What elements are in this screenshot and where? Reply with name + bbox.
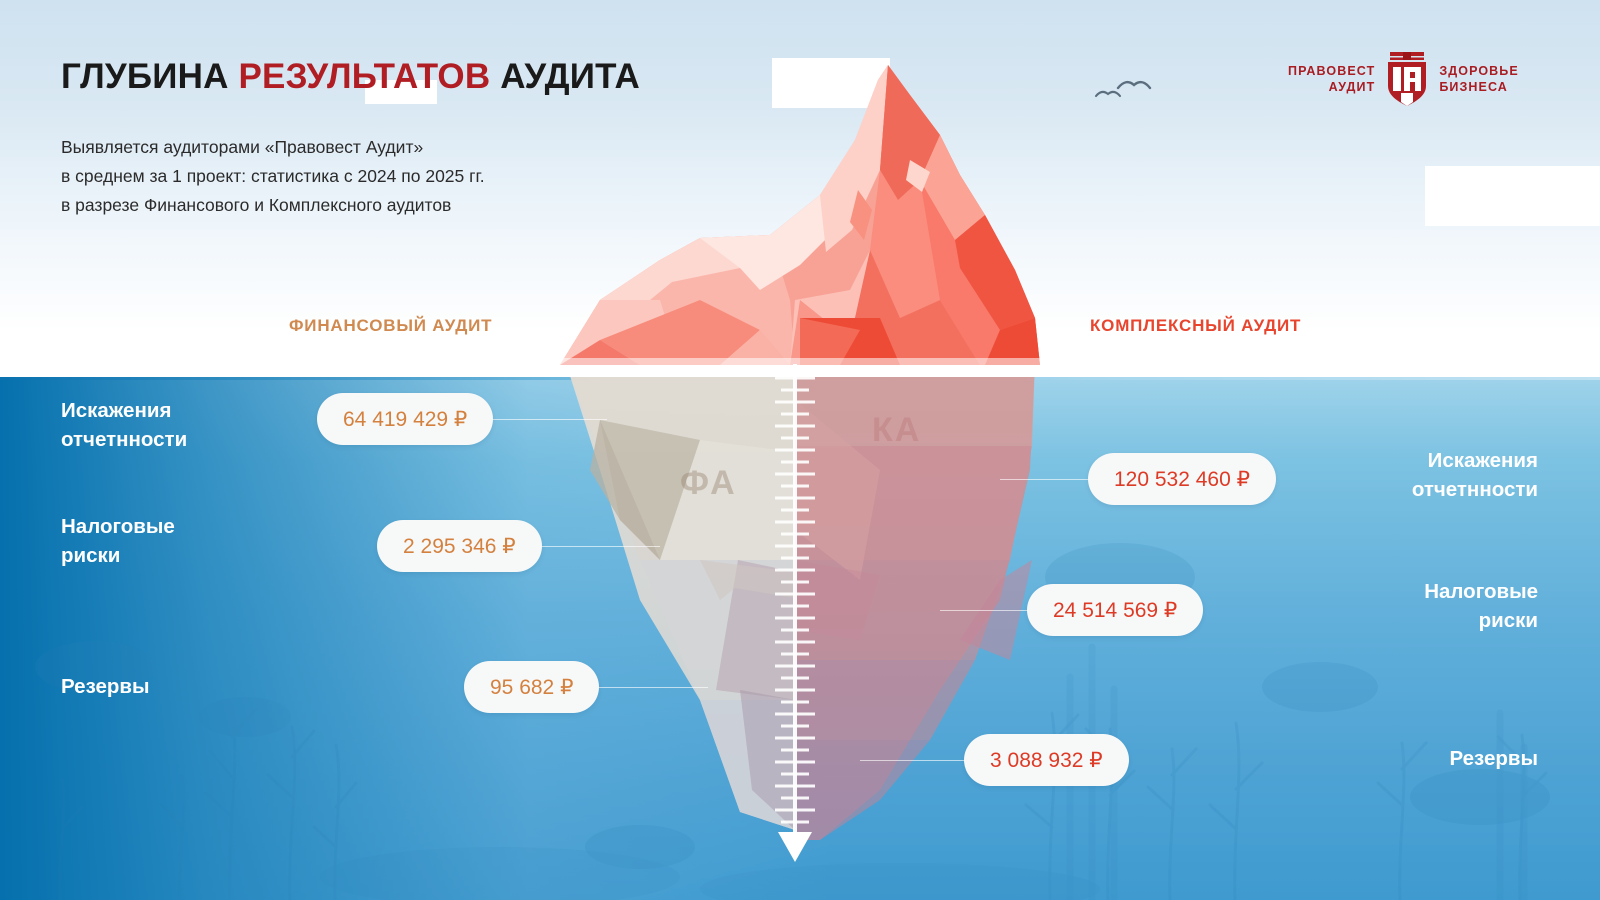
row-label-ka-1: Искажения отчетнности	[1412, 446, 1538, 504]
value-pill-ka-3[interactable]: 3 088 932 ₽	[964, 734, 1129, 786]
connector-line-ka-1	[1000, 479, 1092, 480]
row-label-fa-2-line2: риски	[61, 541, 175, 570]
column-header-financial-audit: ФИНАНСОВЫЙ АУДИТ	[289, 316, 492, 336]
page-subtitle: Выявляется аудиторами «Правовест Аудит» …	[61, 133, 485, 220]
row-label-ka-2: Налоговые риски	[1424, 577, 1538, 635]
iceberg-label-ka: КА	[872, 411, 921, 450]
row-label-ka-2-line2: риски	[1424, 606, 1538, 635]
row-label-fa-2: Налоговые риски	[61, 512, 175, 570]
connector-line-ka-3	[860, 760, 970, 761]
brand-logo[interactable]: ПРАВОВЕСТ АУДИТ ЗДОРОВЬЕ БИЗНЕСА	[1288, 52, 1519, 106]
subtitle-line-2: в среднем за 1 проект: статистика с 2024…	[61, 162, 485, 191]
value-pill-fa-1[interactable]: 64 419 429 ₽	[317, 393, 493, 445]
column-header-complex-audit: КОМПЛЕКСНЫЙ АУДИТ	[1090, 316, 1301, 336]
title-part-2: АУДИТА	[490, 57, 640, 96]
row-label-ka-3-line1: Резервы	[1449, 744, 1538, 773]
row-label-fa-3-line1: Резервы	[61, 672, 150, 701]
logo-left-line-1: ПРАВОВЕСТ	[1288, 63, 1375, 79]
row-label-fa-2-line1: Налоговые	[61, 512, 175, 541]
connector-line-ka-2	[940, 610, 1030, 611]
logo-right-line-2: БИЗНЕСА	[1439, 79, 1519, 95]
row-label-fa-1: Искажения отчетнности	[61, 396, 187, 454]
value-pill-ka-1[interactable]: 120 532 460 ₽	[1088, 453, 1276, 505]
logo-left-line-2: АУДИТ	[1288, 79, 1375, 95]
value-pill-fa-3[interactable]: 95 682 ₽	[464, 661, 599, 713]
logo-right-line-1: ЗДОРОВЬЕ	[1439, 63, 1519, 79]
row-label-fa-1-line1: Искажения	[61, 396, 187, 425]
iceberg-label-fa: ФА	[680, 464, 737, 503]
row-label-ka-3: Резервы	[1449, 744, 1538, 773]
connector-line-fa-2	[535, 546, 660, 547]
connector-line-fa-1	[487, 419, 607, 420]
title-highlight: РЕЗУЛЬТАТОВ	[239, 57, 491, 96]
row-label-ka-2-line1: Налоговые	[1424, 577, 1538, 606]
subtitle-line-1: Выявляется аудиторами «Правовест Аудит»	[61, 133, 485, 162]
infographic-canvas: ФА КА ГЛУБИНА РЕЗУЛЬТАТОВ АУДИТА Выявляе…	[0, 0, 1600, 900]
subtitle-line-3: в разрезе Финансового и Комплексного ауд…	[61, 191, 485, 220]
title-part-1: ГЛУБИНА	[61, 57, 239, 96]
logo-right-text: ЗДОРОВЬЕ БИЗНЕСА	[1439, 63, 1519, 95]
row-label-fa-1-line2: отчетнности	[61, 425, 187, 454]
logo-left-text: ПРАВОВЕСТ АУДИТ	[1288, 63, 1375, 95]
value-pill-fa-2[interactable]: 2 295 346 ₽	[377, 520, 542, 572]
row-label-ka-1-line1: Искажения	[1412, 446, 1538, 475]
shield-icon	[1384, 52, 1430, 106]
row-label-ka-1-line2: отчетнности	[1412, 475, 1538, 504]
page-title: ГЛУБИНА РЕЗУЛЬТАТОВ АУДИТА	[61, 57, 640, 97]
value-pill-ka-2[interactable]: 24 514 569 ₽	[1027, 584, 1203, 636]
row-label-fa-3: Резервы	[61, 672, 150, 701]
connector-line-fa-3	[588, 687, 708, 688]
